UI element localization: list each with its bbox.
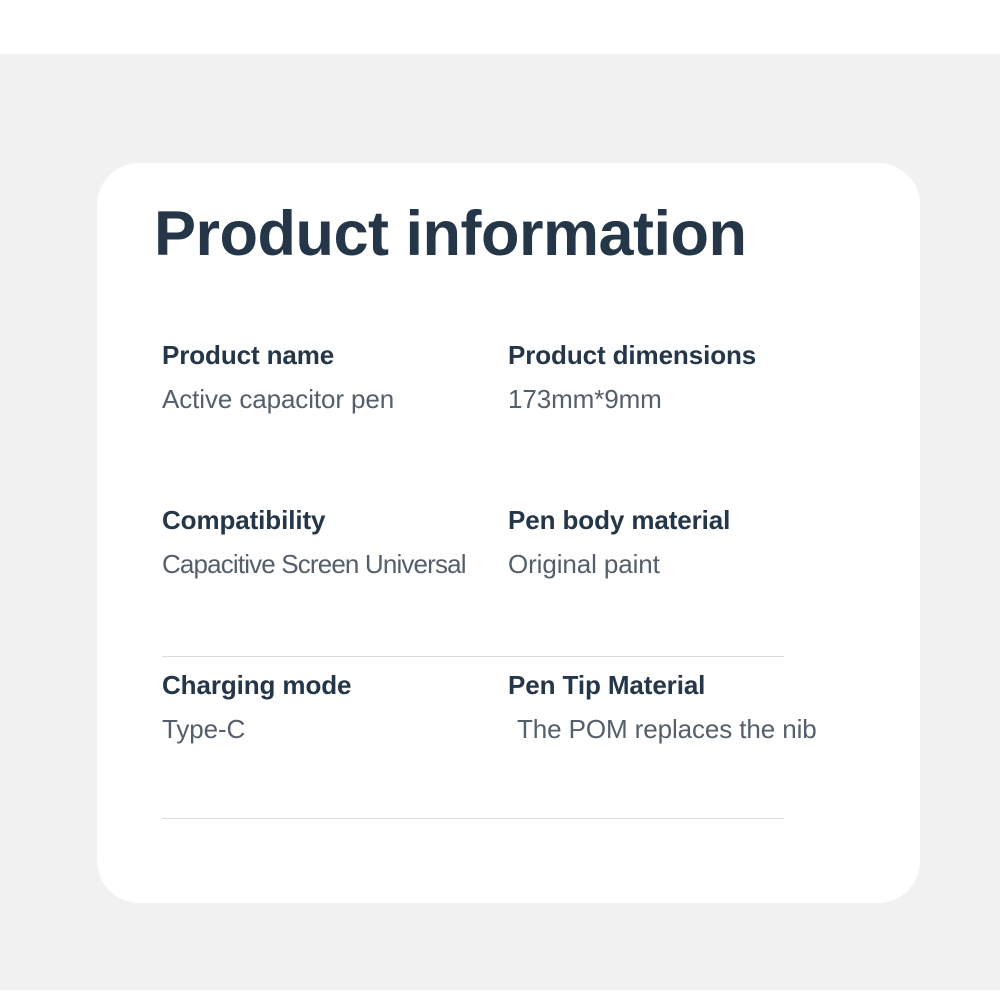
spec-cell-pen-body-material: Pen body material Original paint [508, 506, 730, 580]
product-information-page: Product information Product name Active … [0, 0, 1000, 1000]
spec-row: Product name Active capacitor pen Produc… [97, 341, 920, 506]
spec-label-product-name: Product name [162, 341, 394, 371]
spec-value-pen-body-material: Original paint [508, 550, 730, 580]
spec-value-product-name: Active capacitor pen [162, 385, 394, 415]
spec-label-compatibility: Compatibility [162, 506, 466, 536]
product-information-card: Product information Product name Active … [97, 163, 920, 903]
spec-value-product-dimensions: 173mm*9mm [508, 385, 756, 415]
spec-cell-product-name: Product name Active capacitor pen [162, 341, 394, 415]
spec-label-pen-tip-material: Pen Tip Material [508, 671, 817, 701]
spec-row: Charging mode Type-C Pen Tip Material Th… [97, 671, 920, 836]
specification-table: Product name Active capacitor pen Produc… [97, 341, 920, 836]
spec-value-pen-tip-material: The POM replaces the nib [508, 715, 817, 745]
spec-cell-pen-tip-material: Pen Tip Material The POM replaces the ni… [508, 671, 817, 745]
spec-label-charging-mode: Charging mode [162, 671, 351, 701]
spec-row: Compatibility Capacitive Screen Universa… [97, 506, 920, 671]
spec-cell-compatibility: Compatibility Capacitive Screen Universa… [162, 506, 466, 580]
spec-cell-charging-mode: Charging mode Type-C [162, 671, 351, 745]
spec-label-pen-body-material: Pen body material [508, 506, 730, 536]
spec-value-charging-mode: Type-C [162, 715, 351, 745]
spec-value-compatibility: Capacitive Screen Universal [162, 550, 466, 580]
spec-label-product-dimensions: Product dimensions [508, 341, 756, 371]
page-title: Product information [154, 203, 746, 266]
spec-cell-product-dimensions: Product dimensions 173mm*9mm [508, 341, 756, 415]
